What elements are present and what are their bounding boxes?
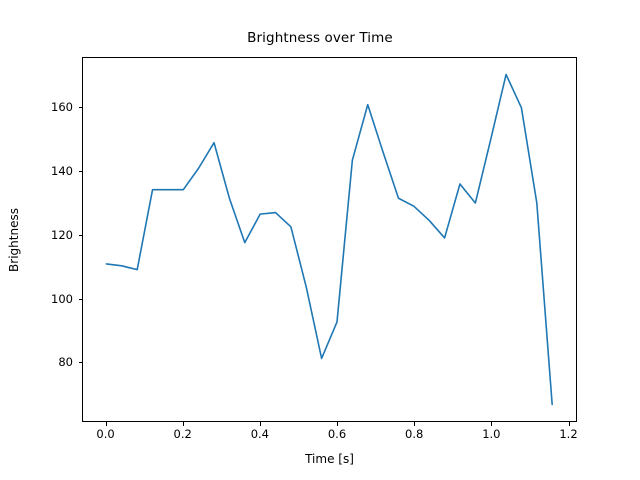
x-tick-label: 1.0	[482, 427, 500, 441]
y-tick-mark	[79, 107, 83, 108]
y-tick-label: 100	[51, 292, 73, 306]
y-tick-label: 160	[51, 100, 73, 114]
x-tick-mark	[569, 422, 570, 426]
x-tick-label: 0.2	[174, 427, 192, 441]
brightness-line	[106, 74, 552, 404]
x-tick-label: 0.6	[328, 427, 346, 441]
y-tick-mark	[79, 171, 83, 172]
y-tick-label: 140	[51, 164, 73, 178]
x-tick-label: 0.4	[251, 427, 269, 441]
x-tick-label: 0.8	[405, 427, 423, 441]
x-tick-mark	[491, 422, 492, 426]
y-tick-mark	[79, 362, 83, 363]
x-tick-label: 0.0	[96, 427, 114, 441]
line-series-svg	[83, 58, 576, 421]
x-axis-label: Time [s]	[82, 452, 577, 466]
x-tick-mark	[183, 422, 184, 426]
plot-area	[82, 57, 577, 422]
y-tick-mark	[79, 235, 83, 236]
x-tick-label: 1.2	[559, 427, 577, 441]
y-tick-label: 120	[51, 228, 73, 242]
x-tick-mark	[260, 422, 261, 426]
y-tick-mark	[79, 299, 83, 300]
x-tick-mark	[414, 422, 415, 426]
x-tick-mark	[337, 422, 338, 426]
x-tick-mark	[106, 422, 107, 426]
y-tick-label: 80	[58, 355, 73, 369]
matplotlib-figure: Brightness over Time 0.00.20.40.60.81.01…	[0, 0, 640, 480]
y-axis-label: Brightness	[7, 208, 21, 272]
chart-title: Brightness over Time	[0, 30, 640, 46]
